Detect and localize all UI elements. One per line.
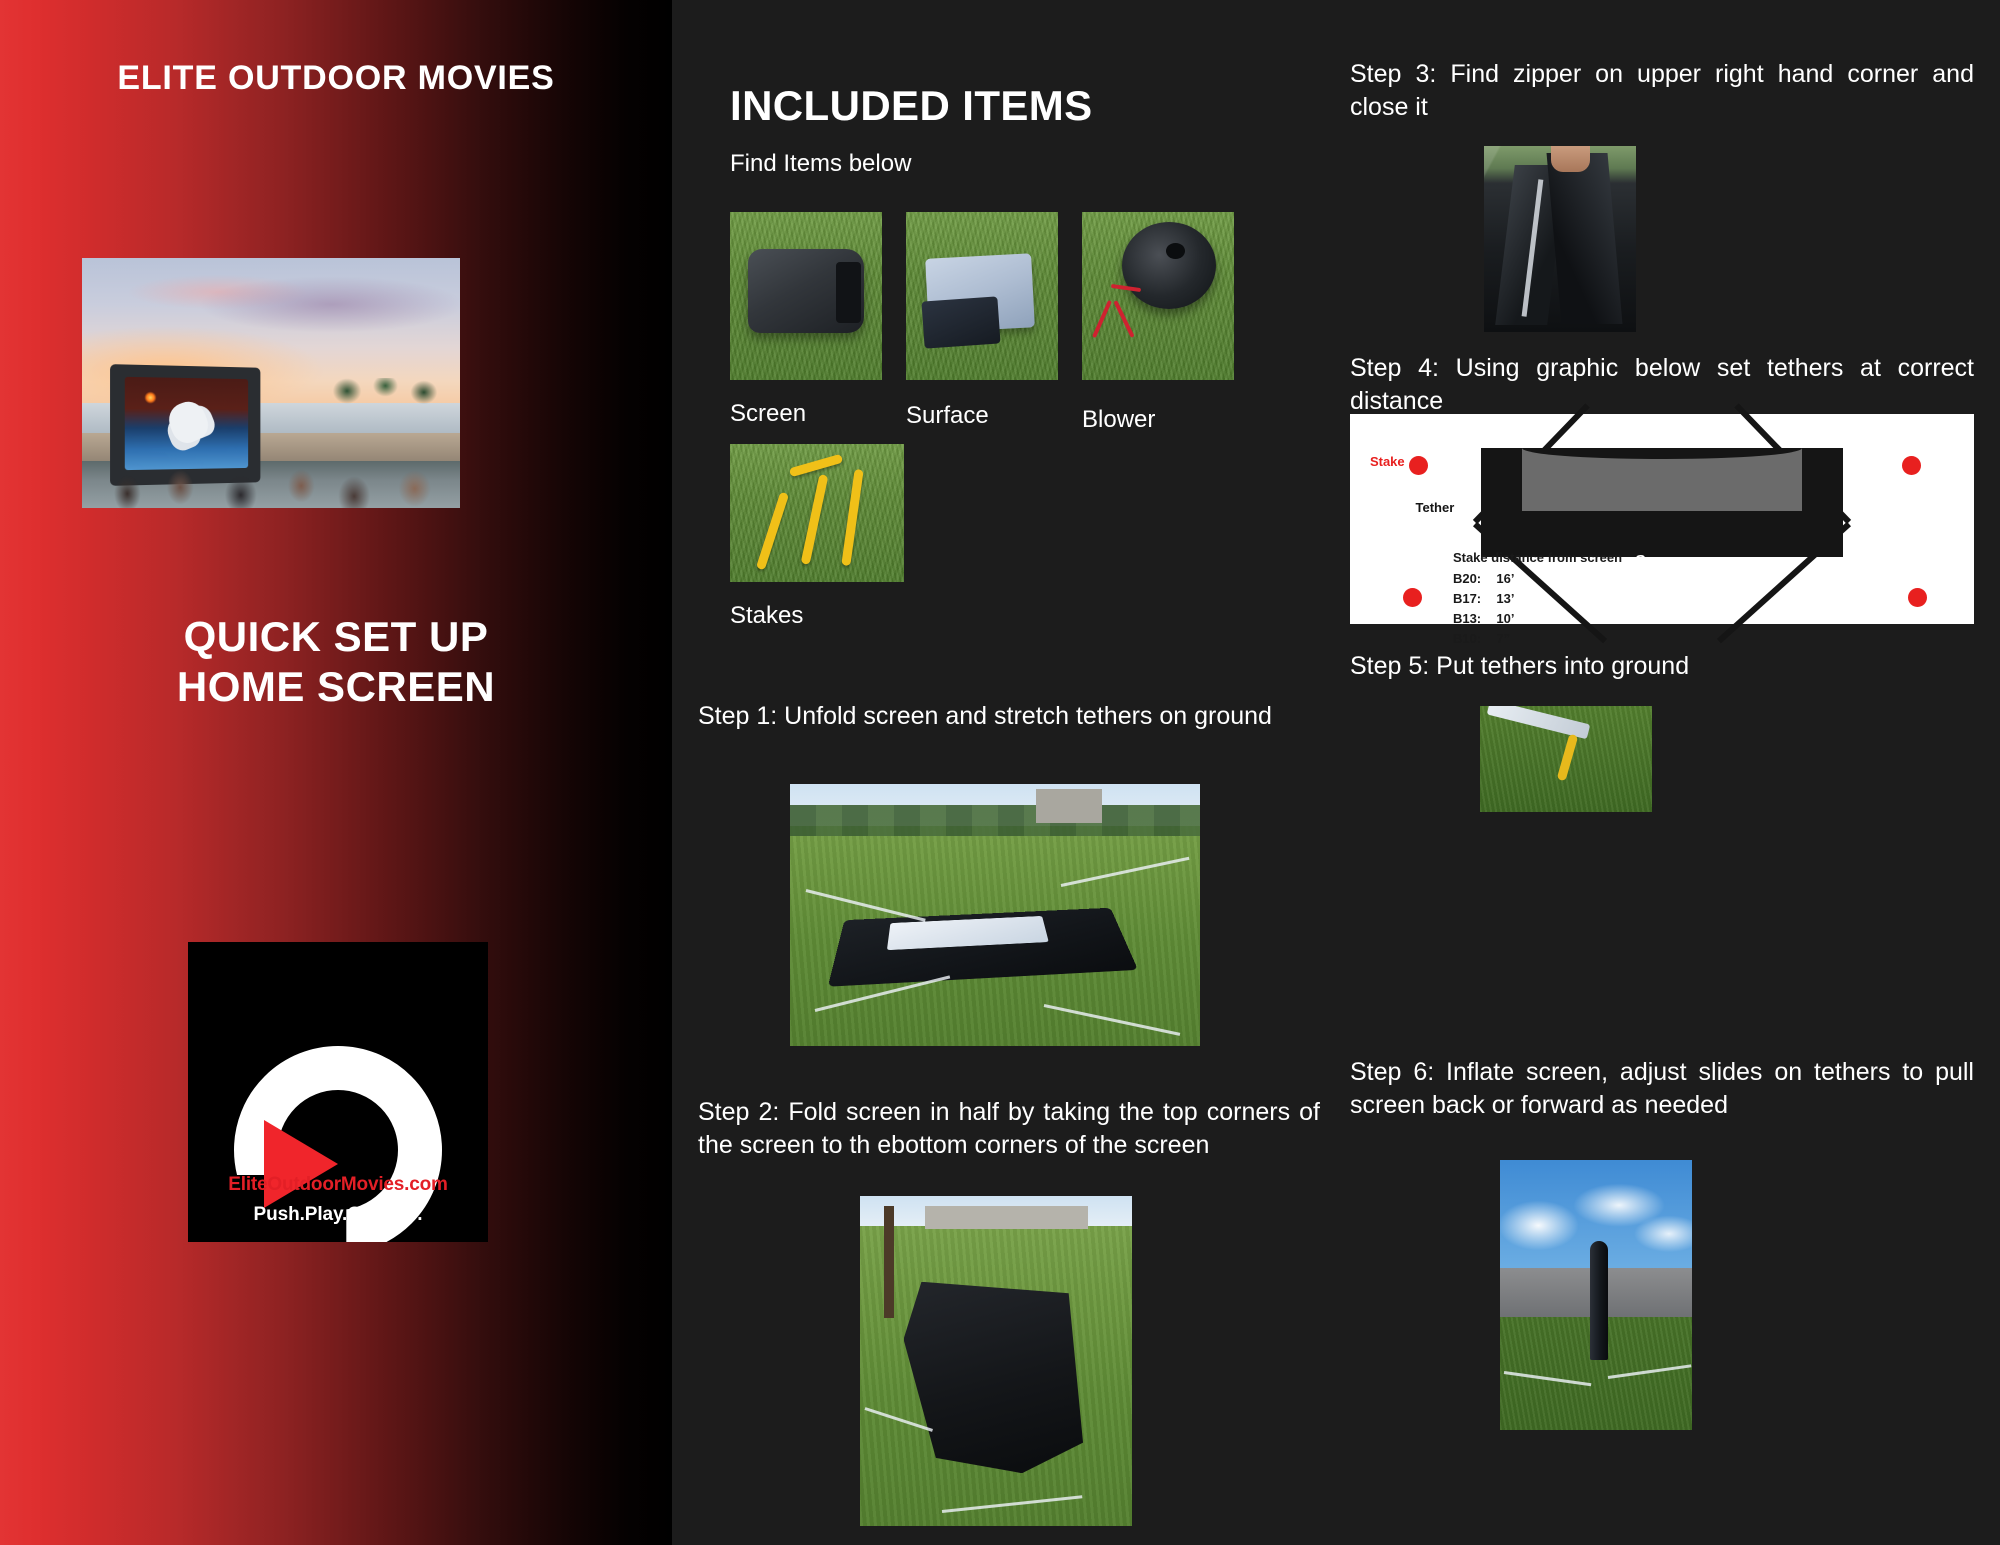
inflating-screen-shape	[1590, 1241, 1607, 1360]
step-6-text: Step 6: Inflate screen, adjust slides on…	[1350, 1056, 1974, 1122]
screen-white-surface	[887, 916, 1049, 950]
step-3-photo	[1484, 146, 1636, 332]
item-label-screen: Screen	[730, 400, 806, 428]
distance-row-b17: B17: 13’	[1453, 589, 1622, 609]
diagram-stake-top-left	[1409, 456, 1428, 475]
included-items-subtitle: Find Items below	[730, 150, 911, 178]
item-thumb-stakes	[730, 444, 904, 582]
step-2-photo	[860, 1196, 1132, 1526]
instructions-content: INCLUDED ITEMS Find Items below	[672, 0, 2000, 1545]
diagram-tether-text: Tether	[1416, 500, 1455, 515]
wall-shape	[925, 1206, 1088, 1229]
item-label-blower: Blower	[1082, 406, 1155, 434]
item-label-stakes: Stakes	[730, 602, 803, 630]
step-1-text: Step 1: Unfold screen and stretch tether…	[698, 700, 1320, 733]
logo-website-url: EliteOutdoorMovies.com	[188, 1174, 488, 1196]
diagram-screen-top-edge	[1522, 448, 1803, 459]
diagram-distance-table: Stake distance from screen B20: 16’ B17:…	[1453, 548, 1622, 649]
hand-shape	[1551, 146, 1591, 172]
distance-value: 16’	[1496, 571, 1514, 586]
surface-dark-fold	[921, 297, 1000, 349]
hero-crowd	[82, 443, 460, 508]
tree-row	[790, 805, 1200, 836]
step-6-photo	[1500, 1160, 1692, 1430]
diagram-stake-bottom-left	[1403, 588, 1422, 607]
distance-row-b13: B13: 10’	[1453, 609, 1622, 629]
distance-row-b20: B20: 16’	[1453, 569, 1622, 589]
setup-guide-page: ELITE OUTDOOR MOVIES QUICK SET UP HOME S…	[0, 0, 2000, 1545]
item-thumb-surface	[906, 212, 1058, 380]
left-brand-panel: ELITE OUTDOOR MOVIES QUICK SET UP HOME S…	[0, 0, 672, 1545]
quick-setup-title: QUICK SET UP HOME SCREEN	[0, 612, 672, 713]
distance-model: B10:	[1453, 631, 1481, 646]
step-2-text: Step 2: Fold screen in half by taking th…	[698, 1096, 1320, 1162]
astronaut-icon	[164, 396, 213, 447]
step-1-photo	[790, 784, 1200, 1046]
tether-distance-diagram: Screen Folded in half horizontally Stake…	[1350, 414, 1974, 624]
logo-tagline: Push.Play.Outside.	[188, 1204, 488, 1226]
distance-model: B13:	[1453, 611, 1481, 626]
diagram-stake-top-right	[1902, 456, 1921, 475]
step-5-photo	[1480, 706, 1652, 812]
item-thumb-blower	[1082, 212, 1234, 380]
distance-model: B20:	[1453, 571, 1481, 586]
distance-row-b10: B10: 7”	[1453, 629, 1622, 649]
company-logo: EliteOutdoorMovies.com Push.Play.Outside…	[188, 942, 488, 1242]
distance-value: 10’	[1496, 611, 1514, 626]
included-items-title: INCLUDED ITEMS	[730, 82, 1093, 130]
distance-title: Stake distance from screen	[1453, 548, 1622, 568]
tree-trunk	[884, 1206, 894, 1318]
step-3-text: Step 3: Find zipper on upper right hand …	[1350, 58, 1974, 124]
step-5-text: Step 5: Put tethers into ground	[1350, 650, 1974, 683]
step-4-text: Step 4: Using graphic below set tethers …	[1350, 352, 1974, 418]
blower-shape	[1122, 222, 1216, 309]
distance-value: 7”	[1496, 631, 1510, 646]
distance-model: B17:	[1453, 591, 1481, 606]
hero-palm-trees	[324, 378, 453, 443]
distance-value: 13’	[1496, 591, 1514, 606]
diagram-screen-inner	[1522, 448, 1803, 511]
bag-strap-shape	[836, 262, 860, 322]
item-thumb-screen	[730, 212, 882, 380]
building-shape	[1036, 789, 1102, 823]
diagram-stake-text: Stake	[1370, 454, 1405, 469]
included-items-row	[730, 212, 1234, 380]
hero-photo-outdoor-movie	[82, 258, 460, 508]
brand-title: ELITE OUTDOOR MOVIES	[0, 58, 672, 98]
diagram-stake-bottom-right	[1908, 588, 1927, 607]
item-label-surface: Surface	[906, 402, 989, 430]
blower-hub	[1166, 243, 1185, 259]
